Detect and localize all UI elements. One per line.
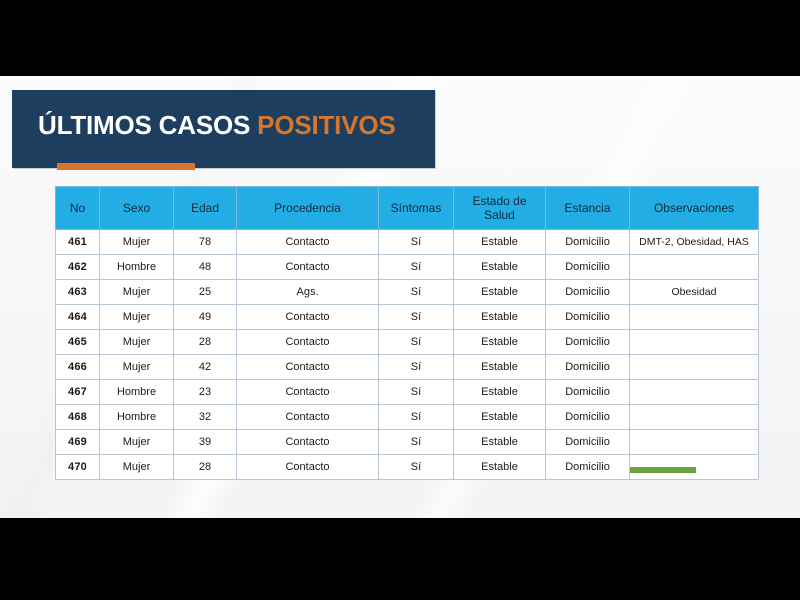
cell-procedencia: Contacto xyxy=(237,430,379,455)
table-row: 463 Mujer 25 Ags. Sí Estable Domicilio O… xyxy=(56,280,759,305)
cell-estancia: Domicilio xyxy=(546,355,630,380)
cell-sexo: Hombre xyxy=(100,255,174,280)
cell-sexo: Mujer xyxy=(100,305,174,330)
cell-observaciones: Obesidad xyxy=(630,280,759,305)
column-header-no: No xyxy=(56,187,100,230)
cell-observaciones xyxy=(630,355,759,380)
cell-no: 461 xyxy=(56,230,100,255)
cell-procedencia: Contacto xyxy=(237,330,379,355)
column-header-edad: Edad xyxy=(174,187,237,230)
cell-observaciones xyxy=(630,430,759,455)
cell-sintomas: Sí xyxy=(379,230,454,255)
cell-estado-salud: Estable xyxy=(454,305,546,330)
cell-no: 469 xyxy=(56,430,100,455)
table-row: 462 Hombre 48 Contacto Sí Estable Domici… xyxy=(56,255,759,280)
cell-estancia: Domicilio xyxy=(546,380,630,405)
cell-estado-salud: Estable xyxy=(454,280,546,305)
cell-sintomas: Sí xyxy=(379,330,454,355)
cell-sexo: Mujer xyxy=(100,430,174,455)
column-header-procedencia: Procedencia xyxy=(237,187,379,230)
cell-estancia: Domicilio xyxy=(546,330,630,355)
cell-sexo: Hombre xyxy=(100,380,174,405)
cell-observaciones xyxy=(630,255,759,280)
title-banner: ÚLTIMOS CASOS POSITIVOS xyxy=(12,90,435,168)
column-header-estancia: Estancia xyxy=(546,187,630,230)
cell-edad: 39 xyxy=(174,430,237,455)
cell-sintomas: Sí xyxy=(379,355,454,380)
cell-estancia: Domicilio xyxy=(546,280,630,305)
cell-observaciones: DMT-2, Obesidad, HAS xyxy=(630,230,759,255)
cell-procedencia: Contacto xyxy=(237,230,379,255)
cell-estado-salud: Estable xyxy=(454,230,546,255)
cell-procedencia: Contacto xyxy=(237,455,379,480)
cell-estancia: Domicilio xyxy=(546,430,630,455)
table-row: 469 Mujer 39 Contacto Sí Estable Domicil… xyxy=(56,430,759,455)
cell-procedencia: Contacto xyxy=(237,255,379,280)
cell-observaciones xyxy=(630,380,759,405)
cell-estancia: Domicilio xyxy=(546,230,630,255)
cell-edad: 28 xyxy=(174,455,237,480)
table-row: 466 Mujer 42 Contacto Sí Estable Domicil… xyxy=(56,355,759,380)
cell-observaciones xyxy=(630,305,759,330)
cell-sexo: Mujer xyxy=(100,330,174,355)
cell-procedencia: Ags. xyxy=(237,280,379,305)
cell-no: 462 xyxy=(56,255,100,280)
cell-procedencia: Contacto xyxy=(237,380,379,405)
cell-sexo: Mujer xyxy=(100,280,174,305)
cell-estancia: Domicilio xyxy=(546,405,630,430)
title-underline-accent xyxy=(57,163,195,170)
presentation-slide: ÚLTIMOS CASOS POSITIVOS No Sexo Edad Pro… xyxy=(0,76,800,518)
cell-sintomas: Sí xyxy=(379,455,454,480)
page-title: ÚLTIMOS CASOS POSITIVOS xyxy=(38,112,396,138)
cell-procedencia: Contacto xyxy=(237,405,379,430)
cell-sintomas: Sí xyxy=(379,380,454,405)
cell-edad: 23 xyxy=(174,380,237,405)
cell-edad: 25 xyxy=(174,280,237,305)
cell-edad: 42 xyxy=(174,355,237,380)
cell-estado-salud: Estable xyxy=(454,355,546,380)
cell-estancia: Domicilio xyxy=(546,305,630,330)
cell-no: 466 xyxy=(56,355,100,380)
table-header-row: No Sexo Edad Procedencia Síntomas Estado… xyxy=(56,187,759,230)
table-row: 468 Hombre 32 Contacto Sí Estable Domici… xyxy=(56,405,759,430)
column-header-sexo: Sexo xyxy=(100,187,174,230)
cell-estado-salud: Estable xyxy=(454,405,546,430)
table-row: 467 Hombre 23 Contacto Sí Estable Domici… xyxy=(56,380,759,405)
green-accent-bar xyxy=(630,467,696,473)
cell-no: 463 xyxy=(56,280,100,305)
column-header-sintomas: Síntomas xyxy=(379,187,454,230)
page-title-accent: POSITIVOS xyxy=(257,110,395,140)
cell-estancia: Domicilio xyxy=(546,455,630,480)
cell-procedencia: Contacto xyxy=(237,305,379,330)
cell-edad: 49 xyxy=(174,305,237,330)
cell-sexo: Mujer xyxy=(100,455,174,480)
cell-sexo: Mujer xyxy=(100,230,174,255)
table-header: No Sexo Edad Procedencia Síntomas Estado… xyxy=(56,187,759,230)
table-row: 461 Mujer 78 Contacto Sí Estable Domicil… xyxy=(56,230,759,255)
cell-no: 470 xyxy=(56,455,100,480)
cell-estado-salud: Estable xyxy=(454,330,546,355)
cell-sintomas: Sí xyxy=(379,305,454,330)
cases-table: No Sexo Edad Procedencia Síntomas Estado… xyxy=(55,186,759,480)
cell-no: 465 xyxy=(56,330,100,355)
cell-procedencia: Contacto xyxy=(237,355,379,380)
cell-sintomas: Sí xyxy=(379,280,454,305)
cell-no: 467 xyxy=(56,380,100,405)
table-row: 464 Mujer 49 Contacto Sí Estable Domicil… xyxy=(56,305,759,330)
cell-edad: 28 xyxy=(174,330,237,355)
page-title-main: ÚLTIMOS CASOS xyxy=(38,110,257,140)
cell-edad: 32 xyxy=(174,405,237,430)
cell-estado-salud: Estable xyxy=(454,455,546,480)
cell-estado-salud: Estable xyxy=(454,255,546,280)
cell-estado-salud: Estable xyxy=(454,380,546,405)
cell-no: 464 xyxy=(56,305,100,330)
table-row: 465 Mujer 28 Contacto Sí Estable Domicil… xyxy=(56,330,759,355)
cell-edad: 78 xyxy=(174,230,237,255)
cell-sintomas: Sí xyxy=(379,430,454,455)
cell-observaciones xyxy=(630,330,759,355)
screen: ÚLTIMOS CASOS POSITIVOS No Sexo Edad Pro… xyxy=(0,0,800,600)
cell-sexo: Hombre xyxy=(100,405,174,430)
cell-estancia: Domicilio xyxy=(546,255,630,280)
table-body: 461 Mujer 78 Contacto Sí Estable Domicil… xyxy=(56,230,759,480)
cell-sintomas: Sí xyxy=(379,405,454,430)
column-header-estado-salud: Estado de Salud xyxy=(454,187,546,230)
cell-no: 468 xyxy=(56,405,100,430)
cell-sexo: Mujer xyxy=(100,355,174,380)
cell-edad: 48 xyxy=(174,255,237,280)
cell-estado-salud: Estable xyxy=(454,430,546,455)
cell-sintomas: Sí xyxy=(379,255,454,280)
column-header-observaciones: Observaciones xyxy=(630,187,759,230)
cell-observaciones xyxy=(630,405,759,430)
